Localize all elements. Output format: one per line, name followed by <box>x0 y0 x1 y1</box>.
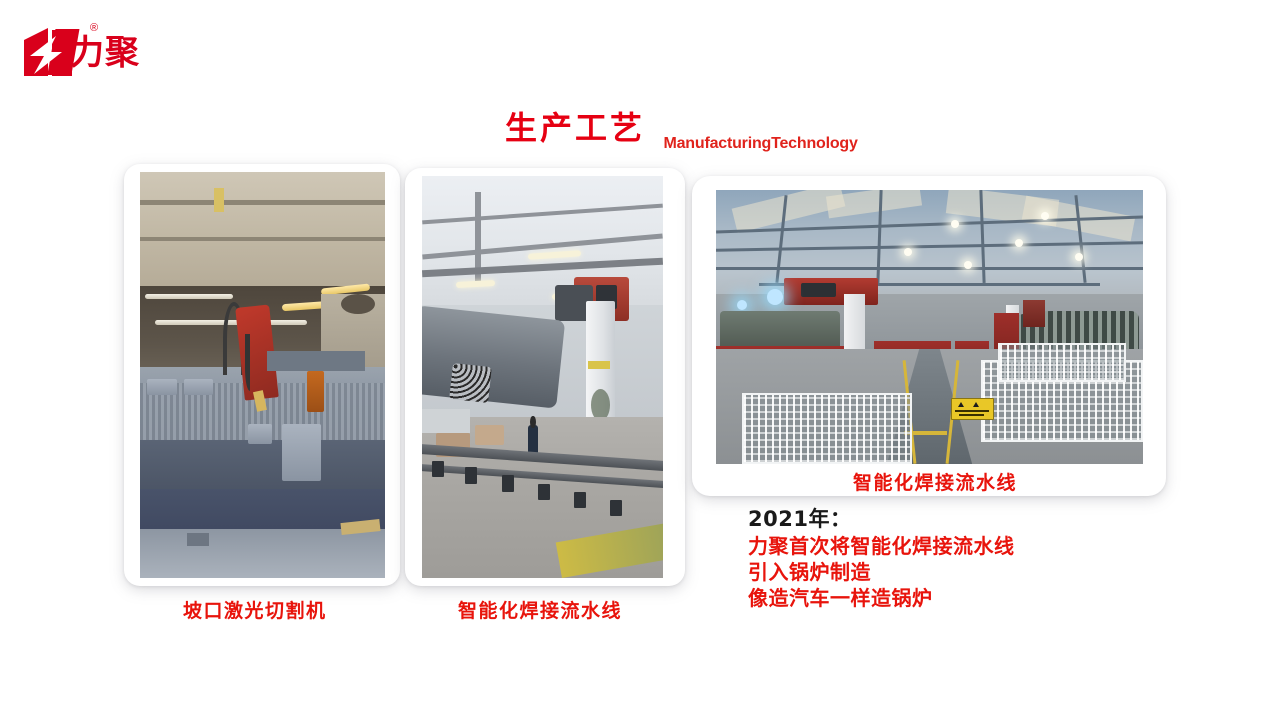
intelligent-welding-line-photo <box>422 176 663 578</box>
photo1-bed-block <box>147 379 176 395</box>
photo2-wall-panel <box>422 409 470 433</box>
photo3-ceiling-light <box>1041 212 1049 220</box>
brand-logo: ® 力聚 <box>22 22 222 82</box>
page-title: 生产工艺 ManufacturingTechnology <box>505 108 858 152</box>
photo3-ceiling-light <box>951 220 959 228</box>
page-title-english: ManufacturingTechnology <box>663 135 857 153</box>
photo2-tube-sheet <box>449 363 491 403</box>
caption-card-2: 智能化焊接流水线 <box>458 596 622 623</box>
photo3-truss <box>716 267 1143 270</box>
intelligent-welding-line-wide-photo <box>716 190 1143 464</box>
caption-card-3: 智能化焊接流水线 <box>853 468 1017 495</box>
photo3-warning-text-line <box>959 414 984 416</box>
page-title-chinese: 生产工艺 <box>505 108 645 148</box>
photo1-hanger <box>214 188 224 212</box>
photo2-rail-tie <box>502 475 514 491</box>
photo3-ceiling-light <box>904 248 912 256</box>
year-label: 2021年： <box>748 506 1168 533</box>
photo3-warning-text-line <box>955 410 989 412</box>
photo1-beam <box>140 200 385 205</box>
photo1-hose <box>245 334 257 391</box>
year-note-line-1: 力聚首次将智能化焊接流水线 <box>748 533 1168 559</box>
photo3-warning-triangle-icon <box>973 402 979 407</box>
photo3-warning-triangle-icon <box>958 402 964 407</box>
photo2-worker-head <box>530 416 535 428</box>
photo1-ceiling <box>140 172 385 294</box>
photo2-boiler-drum <box>422 305 566 409</box>
photo1-light-tube <box>145 294 233 299</box>
photo1-beam <box>140 237 385 241</box>
photo1-floor <box>140 529 385 578</box>
photo3-ceiling-light <box>964 261 972 269</box>
photo1-panel-detail <box>187 533 209 545</box>
photo2-rail-tie <box>465 467 477 483</box>
photo2-rail-tie <box>610 500 622 516</box>
photo2-rail-tie <box>538 484 550 500</box>
photo1-gantry-rail <box>267 351 365 371</box>
year-note-line-3: 像造汽车一样造锅炉 <box>748 585 1168 611</box>
photo1-carriage <box>282 424 321 481</box>
photo2-rail-tie <box>432 461 444 477</box>
year-note-line-2: 引入锅炉制造 <box>748 559 1168 585</box>
caption-card-1: 坡口激光切割机 <box>183 596 327 623</box>
photo3-welding-spark <box>767 289 783 305</box>
photo3-robot-head <box>801 283 835 297</box>
photo1-bed-block <box>184 379 213 395</box>
photo1-duct <box>341 294 375 314</box>
photo3-welding-spark <box>737 300 747 310</box>
photo3-warning-sign <box>951 398 994 420</box>
logo-wordmark: 力聚 <box>70 36 140 70</box>
photo3-ceiling-light <box>1075 253 1083 261</box>
year-note-block: 2021年： 力聚首次将智能化焊接流水线 引入锅炉制造 像造汽车一样造锅炉 <box>748 506 1168 611</box>
photo3-red-barrier <box>1023 300 1044 327</box>
photo2-rail-tie <box>574 492 586 508</box>
photo1-orange-part <box>307 371 324 412</box>
photo3-safety-fence <box>998 343 1126 381</box>
photo3-safety-fence <box>742 393 913 464</box>
photo2-column-label <box>588 361 610 369</box>
photo2-crate <box>475 425 504 445</box>
bevel-laser-cutting-machine-photo <box>140 172 385 578</box>
photo1-carriage <box>248 424 273 444</box>
